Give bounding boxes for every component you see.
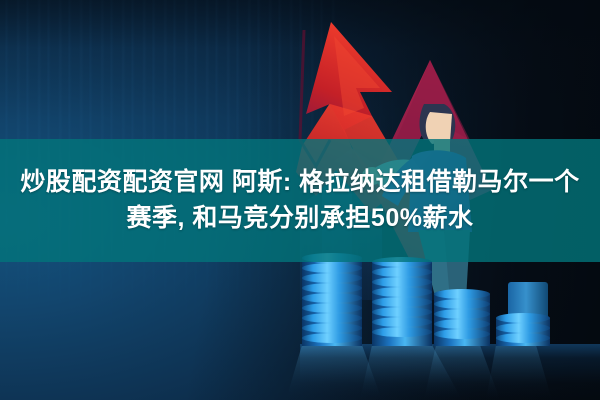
coin-stack-1 [302, 253, 362, 346]
stock-news-banner: 炒股配资配资官网 阿斯: 格拉纳达租借勒马尔一个 赛季, 和马竞分别承担50%薪… [0, 0, 600, 400]
headline-container: 炒股配资配资官网 阿斯: 格拉纳达租借勒马尔一个 赛季, 和马竞分别承担50%薪… [0, 139, 600, 262]
coin-stacks [286, 253, 552, 400]
headline-line-2: 赛季, 和马竞分别承担50%薪水 [127, 204, 474, 234]
coin-stack-2 [372, 257, 432, 346]
coin-stack-4 [496, 282, 550, 346]
coin-stack-3 [434, 289, 490, 346]
headline-line-1: 炒股配资配资官网 阿斯: 格拉纳达租借勒马尔一个 [20, 168, 579, 198]
